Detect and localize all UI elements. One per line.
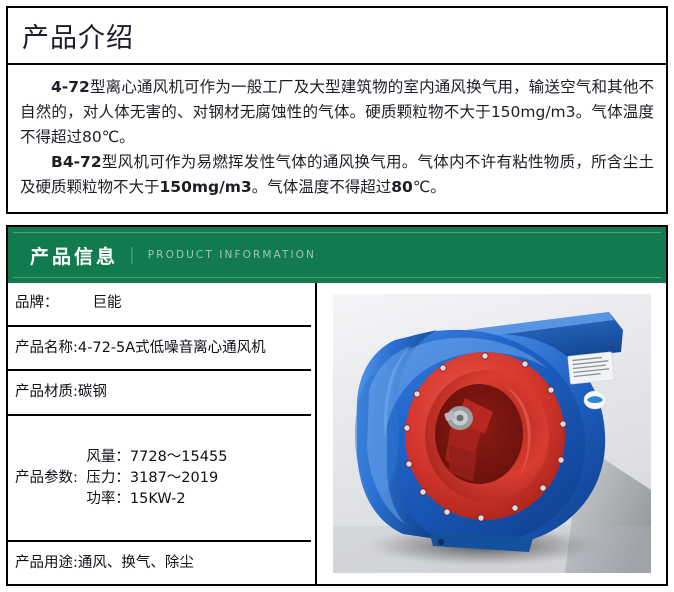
- section-title-en: PRODUCT INFORMATION: [148, 249, 316, 261]
- product-information-body: 品牌：巨能 产品名称:4-72-5A式低噪音离心通风机 产品材质:碳钢 产品参数…: [8, 283, 666, 584]
- table-row: 产品用途:通风、换气、除尘: [8, 541, 311, 584]
- param-key-power: 功率：: [78, 489, 130, 510]
- centrifugal-fan-image: [333, 294, 651, 573]
- product-photo[interactable]: [333, 294, 651, 573]
- param-line-power: 功率：15KW-2: [78, 489, 228, 510]
- product-detail-page: 产品介绍 4-72型离心通风机可作为一般工厂及大型建筑物的室内通风换气用，输送空…: [0, 0, 674, 592]
- introduction-text: 4-72型离心通风机可作为一般工厂及大型建筑物的室内通风换气用，输送空气和其他不…: [8, 65, 666, 200]
- table-row: 品牌：巨能: [8, 283, 311, 326]
- intro-p1-text: 型离心通风机可作为一般工厂及大型建筑物的室内通风换气用，输送空气和其他不自然的，…: [20, 78, 654, 146]
- intro-p2-tail: 。气体温度不得超过: [252, 178, 392, 196]
- param-value-power: 15KW-2: [130, 491, 186, 507]
- page-title: 产品介绍: [8, 8, 666, 52]
- product-photo-cell: [315, 283, 666, 584]
- param-value-airflow: 7728～15455: [130, 449, 228, 465]
- product-information-block: 产品信息 | PRODUCT INFORMATION 品牌：巨能 产品名称:4-…: [6, 225, 668, 586]
- param-line-pressure: 压力：3187～2019: [78, 468, 228, 489]
- spec-brand-cell: 品牌：巨能: [8, 283, 311, 326]
- spec-parameters-wrap: 产品参数: 风量：7728～15455 压力：3187～2019 功率：15KW…: [15, 447, 311, 510]
- intro-p2-lead: B4-72: [51, 153, 102, 171]
- spec-name-value: 4-72-5A式低噪音离心通风机: [78, 340, 266, 356]
- spec-parameters-lines: 风量：7728～15455 压力：3187～2019 功率：15KW-2: [78, 447, 228, 510]
- intro-p2-em: 150mg/m3: [160, 178, 252, 196]
- param-line-airflow: 风量：7728～15455: [78, 447, 228, 468]
- spec-usage-cell: 产品用途:通风、换气、除尘: [8, 541, 311, 584]
- spec-material-label: 产品材质:: [15, 384, 78, 400]
- intro-paragraph-2: B4-72型风机可作为易燃挥发性气体的通风换气用。气体内不许有粘性物质，所含尘土…: [20, 150, 654, 200]
- intro-p1-lead: 4-72: [51, 78, 90, 96]
- param-value-pressure: 3187～2019: [130, 470, 218, 486]
- param-key-airflow: 风量：: [78, 447, 130, 468]
- spec-parameters-label: 产品参数:: [15, 468, 78, 489]
- section-title-cn: 产品信息: [30, 242, 118, 269]
- product-information-header: 产品信息 | PRODUCT INFORMATION: [8, 227, 666, 283]
- table-row: 产品参数: 风量：7728～15455 压力：3187～2019 功率：15KW…: [8, 415, 311, 541]
- intro-paragraph-1: 4-72型离心通风机可作为一般工厂及大型建筑物的室内通风换气用，输送空气和其他不…: [20, 75, 654, 150]
- spec-usage-value: 通风、换气、除尘: [78, 555, 194, 571]
- spec-parameters-cell: 产品参数: 风量：7728～15455 压力：3187～2019 功率：15KW…: [8, 415, 311, 541]
- spec-usage-label: 产品用途:: [15, 555, 78, 571]
- specification-table: 品牌：巨能 产品名称:4-72-5A式低噪音离心通风机 产品材质:碳钢 产品参数…: [8, 283, 311, 584]
- spec-name-label: 产品名称:: [15, 340, 78, 356]
- pipe-divider-icon: |: [129, 245, 135, 265]
- spec-brand-label: 品牌：: [15, 295, 59, 311]
- spec-material-cell: 产品材质:碳钢: [8, 370, 311, 415]
- intro-p2-tail2: ℃。: [413, 178, 446, 196]
- intro-p2-em2: 80: [391, 178, 413, 196]
- param-key-pressure: 压力：: [78, 468, 130, 489]
- table-row: 产品名称:4-72-5A式低噪音离心通风机: [8, 326, 311, 371]
- spec-brand-value: 巨能: [59, 295, 122, 311]
- table-row: 产品材质:碳钢: [8, 370, 311, 415]
- spec-name-cell: 产品名称:4-72-5A式低噪音离心通风机: [8, 326, 311, 371]
- header-content: 产品信息 | PRODUCT INFORMATION: [30, 227, 316, 283]
- product-introduction-block: 产品介绍 4-72型离心通风机可作为一般工厂及大型建筑物的室内通风换气用，输送空…: [6, 6, 668, 214]
- spec-material-value: 碳钢: [78, 384, 107, 400]
